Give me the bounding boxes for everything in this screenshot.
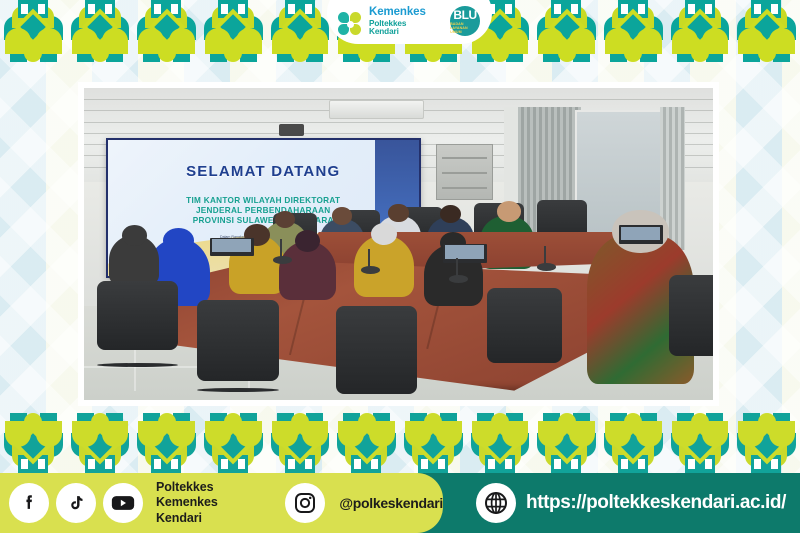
instagram-handle[interactable]: @polkeskendari [339, 495, 443, 511]
batik-motif [533, 413, 600, 473]
chair-base [197, 388, 279, 392]
bottom-decorative-band [0, 413, 800, 473]
laptop [443, 244, 487, 263]
air-conditioner [329, 100, 423, 119]
meeting-room-photo: SELAMAT DATANG TIM KANTOR WILAYAH DIREKT… [84, 88, 713, 400]
microphone [537, 263, 556, 271]
participant-head [388, 204, 408, 221]
participant-head [122, 225, 147, 245]
batik-motif [67, 0, 134, 62]
brand-line-1: Kemenkes [369, 7, 438, 19]
batik-motif [267, 0, 334, 62]
participant-head [295, 230, 320, 252]
batik-motif [200, 0, 267, 62]
batik-motif [600, 413, 667, 473]
projector [279, 124, 304, 136]
brand-wordmark: Kemenkes Poltekkes Kendari [369, 7, 438, 36]
laptop [619, 225, 663, 244]
footer-social-section: Poltekkes Kemenkes Kendari @polkeskendar… [0, 473, 443, 533]
batik-motif [467, 413, 534, 473]
batik-motif [267, 413, 334, 473]
batik-motif [600, 0, 667, 62]
account-name: Poltekkes Kemenkes Kendari [156, 480, 264, 526]
brand-logo-pill: Kemenkes Poltekkes Kendari BLU BADAN LAY… [327, 0, 492, 44]
batik-motif [533, 0, 600, 62]
globe-icon[interactable] [476, 483, 516, 523]
screen-welcome-text: SELAMAT DATANG [133, 163, 394, 180]
batik-motif [667, 413, 734, 473]
youtube-icon[interactable] [103, 483, 143, 523]
website-url[interactable]: https://poltekkeskendari.ac.id/ [526, 492, 786, 514]
chair-base [97, 363, 179, 367]
batik-motif [67, 413, 134, 473]
account-name-line-2: Kemenkes Kendari [156, 495, 264, 526]
poster-canvas: Kemenkes Poltekkes Kendari BLU BADAN LAY… [0, 0, 800, 533]
batik-motif [0, 0, 67, 62]
batik-motif [133, 0, 200, 62]
batik-motif [200, 413, 267, 473]
wall-cabinet [436, 144, 493, 200]
microphone [449, 275, 468, 283]
chair [669, 275, 713, 356]
batik-motif [0, 413, 67, 473]
kemenkes-flower-icon [337, 11, 363, 37]
batik-motif [733, 413, 800, 473]
microphone [361, 266, 380, 274]
blu-badge-text: BLU [453, 9, 476, 21]
blu-badge-subtext: BADAN LAYANAN UMUM [450, 22, 480, 34]
screen-subtitle-line-1: TIM KANTOR WILAYAH DIREKTORAT [124, 196, 403, 206]
chair [487, 288, 562, 363]
chair [336, 306, 418, 393]
blu-badge-icon: BLU BADAN LAYANAN UMUM [448, 4, 482, 38]
instagram-icon[interactable] [285, 483, 325, 523]
chair [197, 300, 279, 381]
footer-website-section: https://poltekkeskendari.ac.id/ [476, 473, 800, 533]
photo-card: SELAMAT DATANG TIM KANTOR WILAYAH DIREKT… [78, 82, 719, 406]
batik-motif [133, 413, 200, 473]
batik-motif [667, 0, 734, 62]
batik-motif [333, 413, 400, 473]
chair [97, 281, 179, 350]
facebook-icon[interactable] [9, 483, 49, 523]
account-name-line-1: Poltekkes [156, 480, 264, 495]
batik-motif [733, 0, 800, 62]
participant-head [332, 207, 352, 224]
batik-motif [400, 413, 467, 473]
brand-line-2: Poltekkes Kendari [369, 20, 438, 36]
participant-head [497, 201, 521, 222]
tiktok-icon[interactable] [56, 483, 96, 523]
laptop [210, 238, 254, 257]
